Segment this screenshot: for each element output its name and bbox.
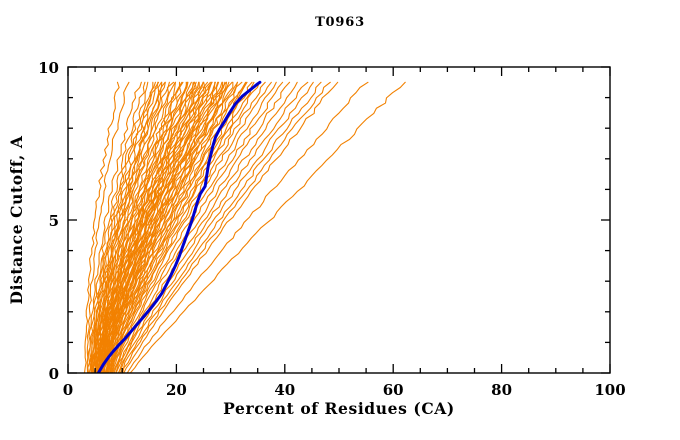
x-tick-label: 0 xyxy=(63,381,73,399)
chart-title: T0963 xyxy=(315,15,365,30)
x-tick-label: 100 xyxy=(594,381,625,399)
y-tick-label: 5 xyxy=(49,212,59,230)
y-axis-title: Distance Cutoff, A xyxy=(7,135,26,304)
chart-page: T0963 0204060801000510 Percent of Residu… xyxy=(0,0,680,440)
chart-background xyxy=(0,0,680,440)
y-tick-label: 10 xyxy=(38,59,59,77)
x-tick-label: 80 xyxy=(491,381,512,399)
x-axis-title: Percent of Residues (CA) xyxy=(223,399,455,418)
x-tick-label: 40 xyxy=(274,381,295,399)
pae-distance-cutoff-chart: T0963 0204060801000510 Percent of Residu… xyxy=(0,0,680,440)
x-tick-label: 60 xyxy=(383,381,404,399)
y-tick-label: 0 xyxy=(49,365,59,383)
x-tick-label: 20 xyxy=(166,381,187,399)
